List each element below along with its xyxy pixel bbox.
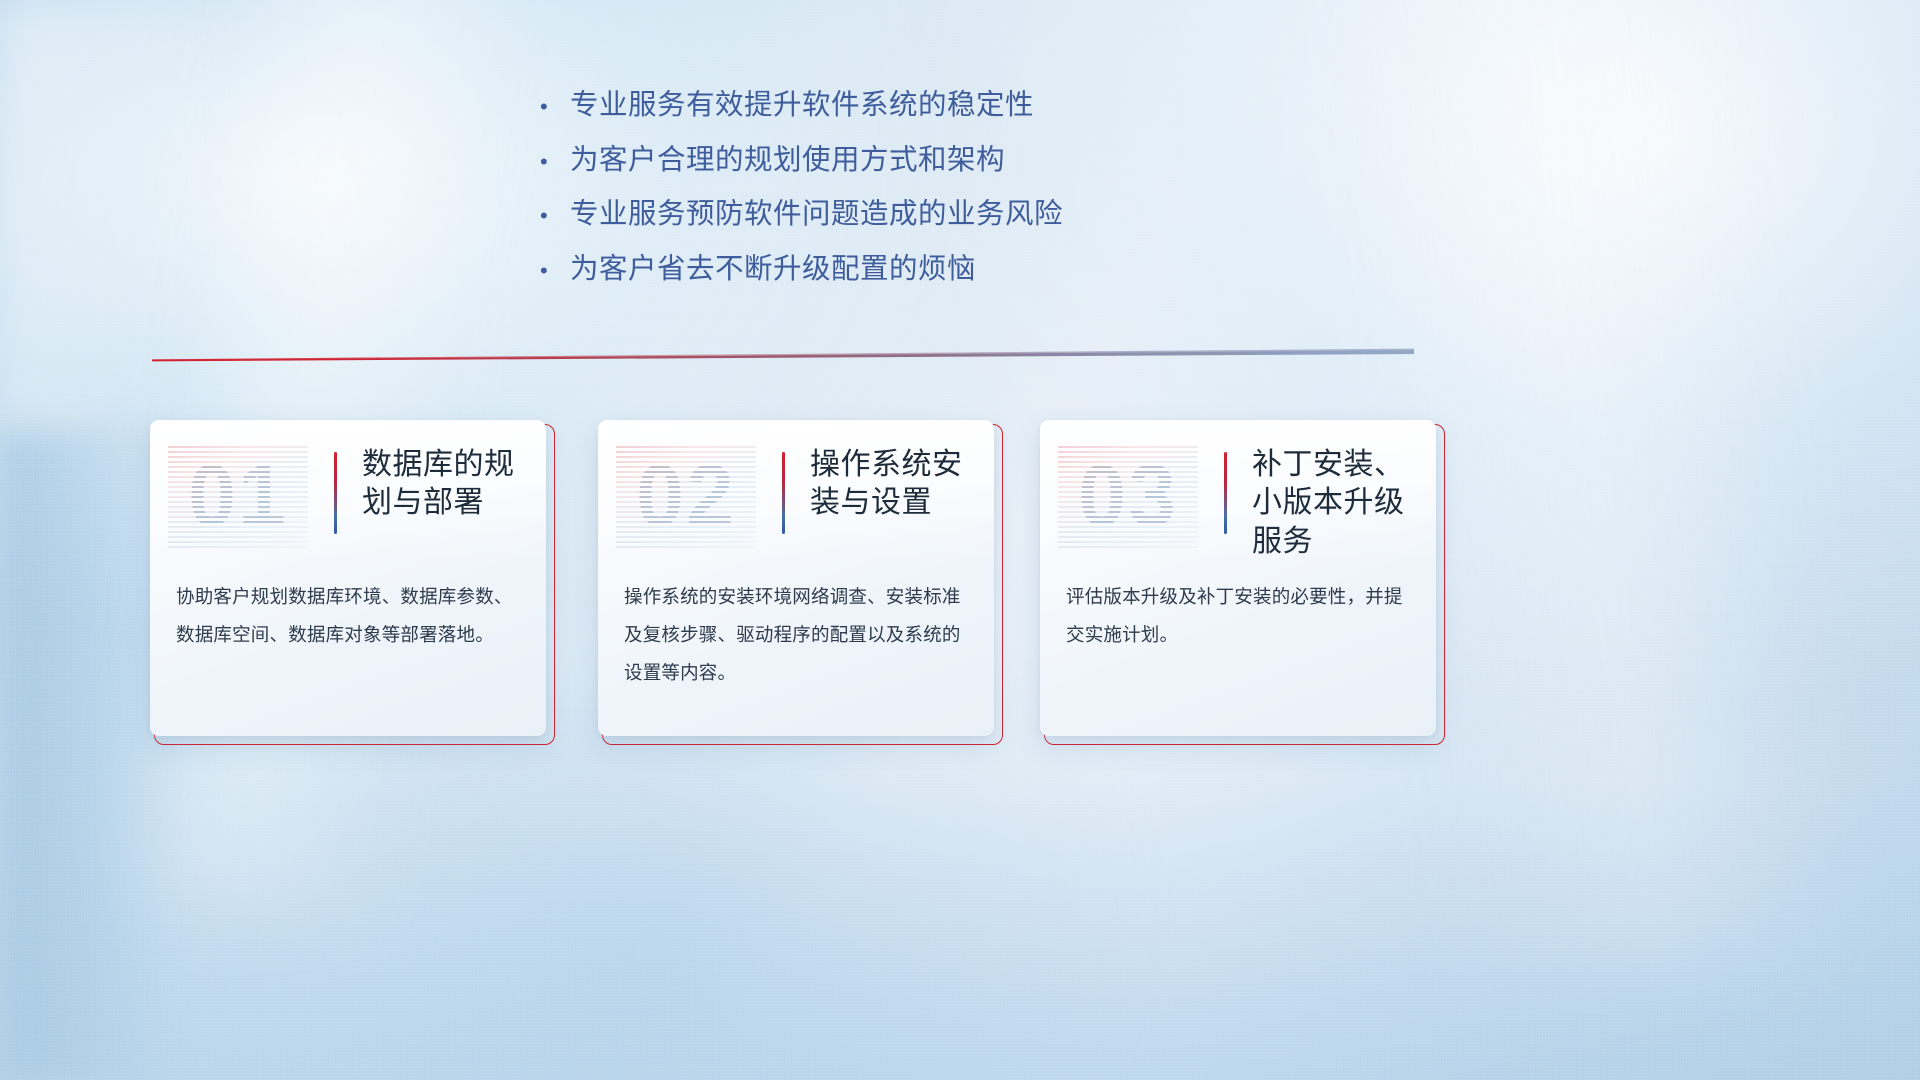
bullet-marker-icon: • bbox=[540, 151, 570, 173]
card-surface[interactable]: 01 数据库的规划与部署 协助客户规划数据库环境、数据库参数、数据库空间、数据库… bbox=[150, 420, 546, 736]
tapered-rule-icon bbox=[152, 348, 1414, 362]
card-surface[interactable]: 03 补丁安装、小版本升级服务 评估版本升级及补丁安装的必要性，并提交实施计划。 bbox=[1040, 420, 1436, 736]
section-divider bbox=[152, 348, 1414, 362]
benefits-bullet-list: • 专业服务有效提升软件系统的稳定性 • 为客户合理的规划使用方式和架构 • 专… bbox=[540, 88, 1440, 307]
card-title: 数据库的规划与部署 bbox=[362, 446, 538, 523]
title-accent-rule bbox=[1224, 452, 1227, 534]
list-item: • 为客户省去不断升级配置的烦恼 bbox=[540, 252, 1440, 288]
card-header: 03 补丁安装、小版本升级服务 bbox=[1040, 438, 1436, 556]
list-item: • 为客户合理的规划使用方式和架构 bbox=[540, 143, 1440, 179]
title-accent-rule bbox=[782, 452, 785, 534]
service-card-02[interactable]: 02 操作系统安装与设置 操作系统的安装环境网络调查、安装标准及复核步骤、驱动程… bbox=[598, 420, 1000, 742]
card-title: 操作系统安装与设置 bbox=[810, 446, 986, 523]
service-card-03[interactable]: 03 补丁安装、小版本升级服务 评估版本升级及补丁安装的必要性，并提交实施计划。 bbox=[1040, 420, 1442, 742]
card-surface[interactable]: 02 操作系统安装与设置 操作系统的安装环境网络调查、安装标准及复核步骤、驱动程… bbox=[598, 420, 994, 736]
bullet-text-1: 专业服务有效提升软件系统的稳定性 bbox=[570, 88, 1034, 124]
card-description: 操作系统的安装环境网络调查、安装标准及复核步骤、驱动程序的配置以及系统的设置等内… bbox=[624, 578, 972, 692]
card-number-watermark: 03 bbox=[1058, 444, 1198, 548]
bullet-text-4: 为客户省去不断升级配置的烦恼 bbox=[570, 252, 976, 288]
bullet-text-2: 为客户合理的规划使用方式和架构 bbox=[570, 143, 1005, 179]
card-number-watermark: 02 bbox=[616, 444, 756, 548]
card-title: 补丁安装、小版本升级服务 bbox=[1252, 446, 1428, 561]
title-accent-rule bbox=[334, 452, 337, 534]
list-item: • 专业服务预防软件问题造成的业务风险 bbox=[540, 197, 1440, 233]
bullet-text-3: 专业服务预防软件问题造成的业务风险 bbox=[570, 197, 1063, 233]
card-header: 02 操作系统安装与设置 bbox=[598, 438, 994, 556]
card-description: 协助客户规划数据库环境、数据库参数、数据库空间、数据库对象等部署落地。 bbox=[176, 578, 524, 654]
service-card-01[interactable]: 01 数据库的规划与部署 协助客户规划数据库环境、数据库参数、数据库空间、数据库… bbox=[150, 420, 552, 742]
card-description: 评估版本升级及补丁安装的必要性，并提交实施计划。 bbox=[1066, 578, 1414, 654]
card-number-watermark: 01 bbox=[168, 444, 308, 548]
card-header: 01 数据库的规划与部署 bbox=[150, 438, 546, 556]
service-cards: 01 数据库的规划与部署 协助客户规划数据库环境、数据库参数、数据库空间、数据库… bbox=[0, 420, 1920, 750]
bullet-marker-icon: • bbox=[540, 96, 570, 118]
bullet-marker-icon: • bbox=[540, 260, 570, 282]
bullet-marker-icon: • bbox=[540, 205, 570, 227]
list-item: • 专业服务有效提升软件系统的稳定性 bbox=[540, 88, 1440, 124]
